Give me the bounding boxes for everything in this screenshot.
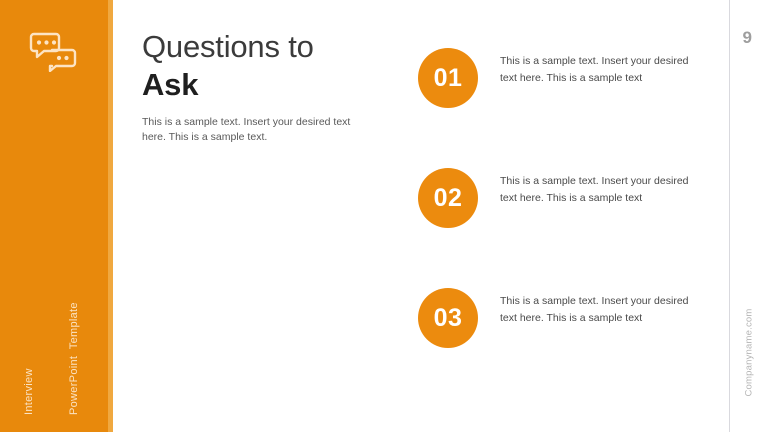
item-body-text: This is a sample text. Insert your desir…: [500, 293, 695, 327]
item-number-badge: 01: [418, 48, 478, 108]
item-number-badge: 02: [418, 168, 478, 228]
right-divider-line: [729, 0, 730, 432]
chat-bubbles-icon: [28, 30, 80, 72]
subtitle-text: This is a sample text. Insert your desir…: [142, 115, 352, 145]
list-item[interactable]: 02 This is a sample text. Insert your de…: [418, 168, 718, 230]
slide-canvas: Interview PowerPoint Template Questions …: [0, 0, 768, 432]
item-number-badge: 03: [418, 288, 478, 348]
footer-website-label: Companyname.com: [744, 277, 755, 397]
numbered-items-list: 01 This is a sample text. Insert your de…: [418, 0, 718, 432]
list-item[interactable]: 03 This is a sample text. Insert your de…: [418, 288, 718, 350]
page-title-line-2: Ask: [142, 66, 392, 104]
sidebar-caption-line-1: Interview: [22, 215, 37, 415]
item-body-text: This is a sample text. Insert your desir…: [500, 173, 695, 207]
sidebar-vertical-caption: Interview PowerPoint Template: [0, 215, 112, 415]
item-body-text: This is a sample text. Insert your desir…: [500, 53, 695, 87]
page-title: Questions to Ask: [142, 28, 392, 104]
page-title-line-1: Questions to: [142, 28, 392, 66]
page-number: 9: [743, 28, 752, 48]
list-item[interactable]: 01 This is a sample text. Insert your de…: [418, 48, 718, 110]
sidebar-caption-line-2: PowerPoint Template: [67, 215, 82, 415]
